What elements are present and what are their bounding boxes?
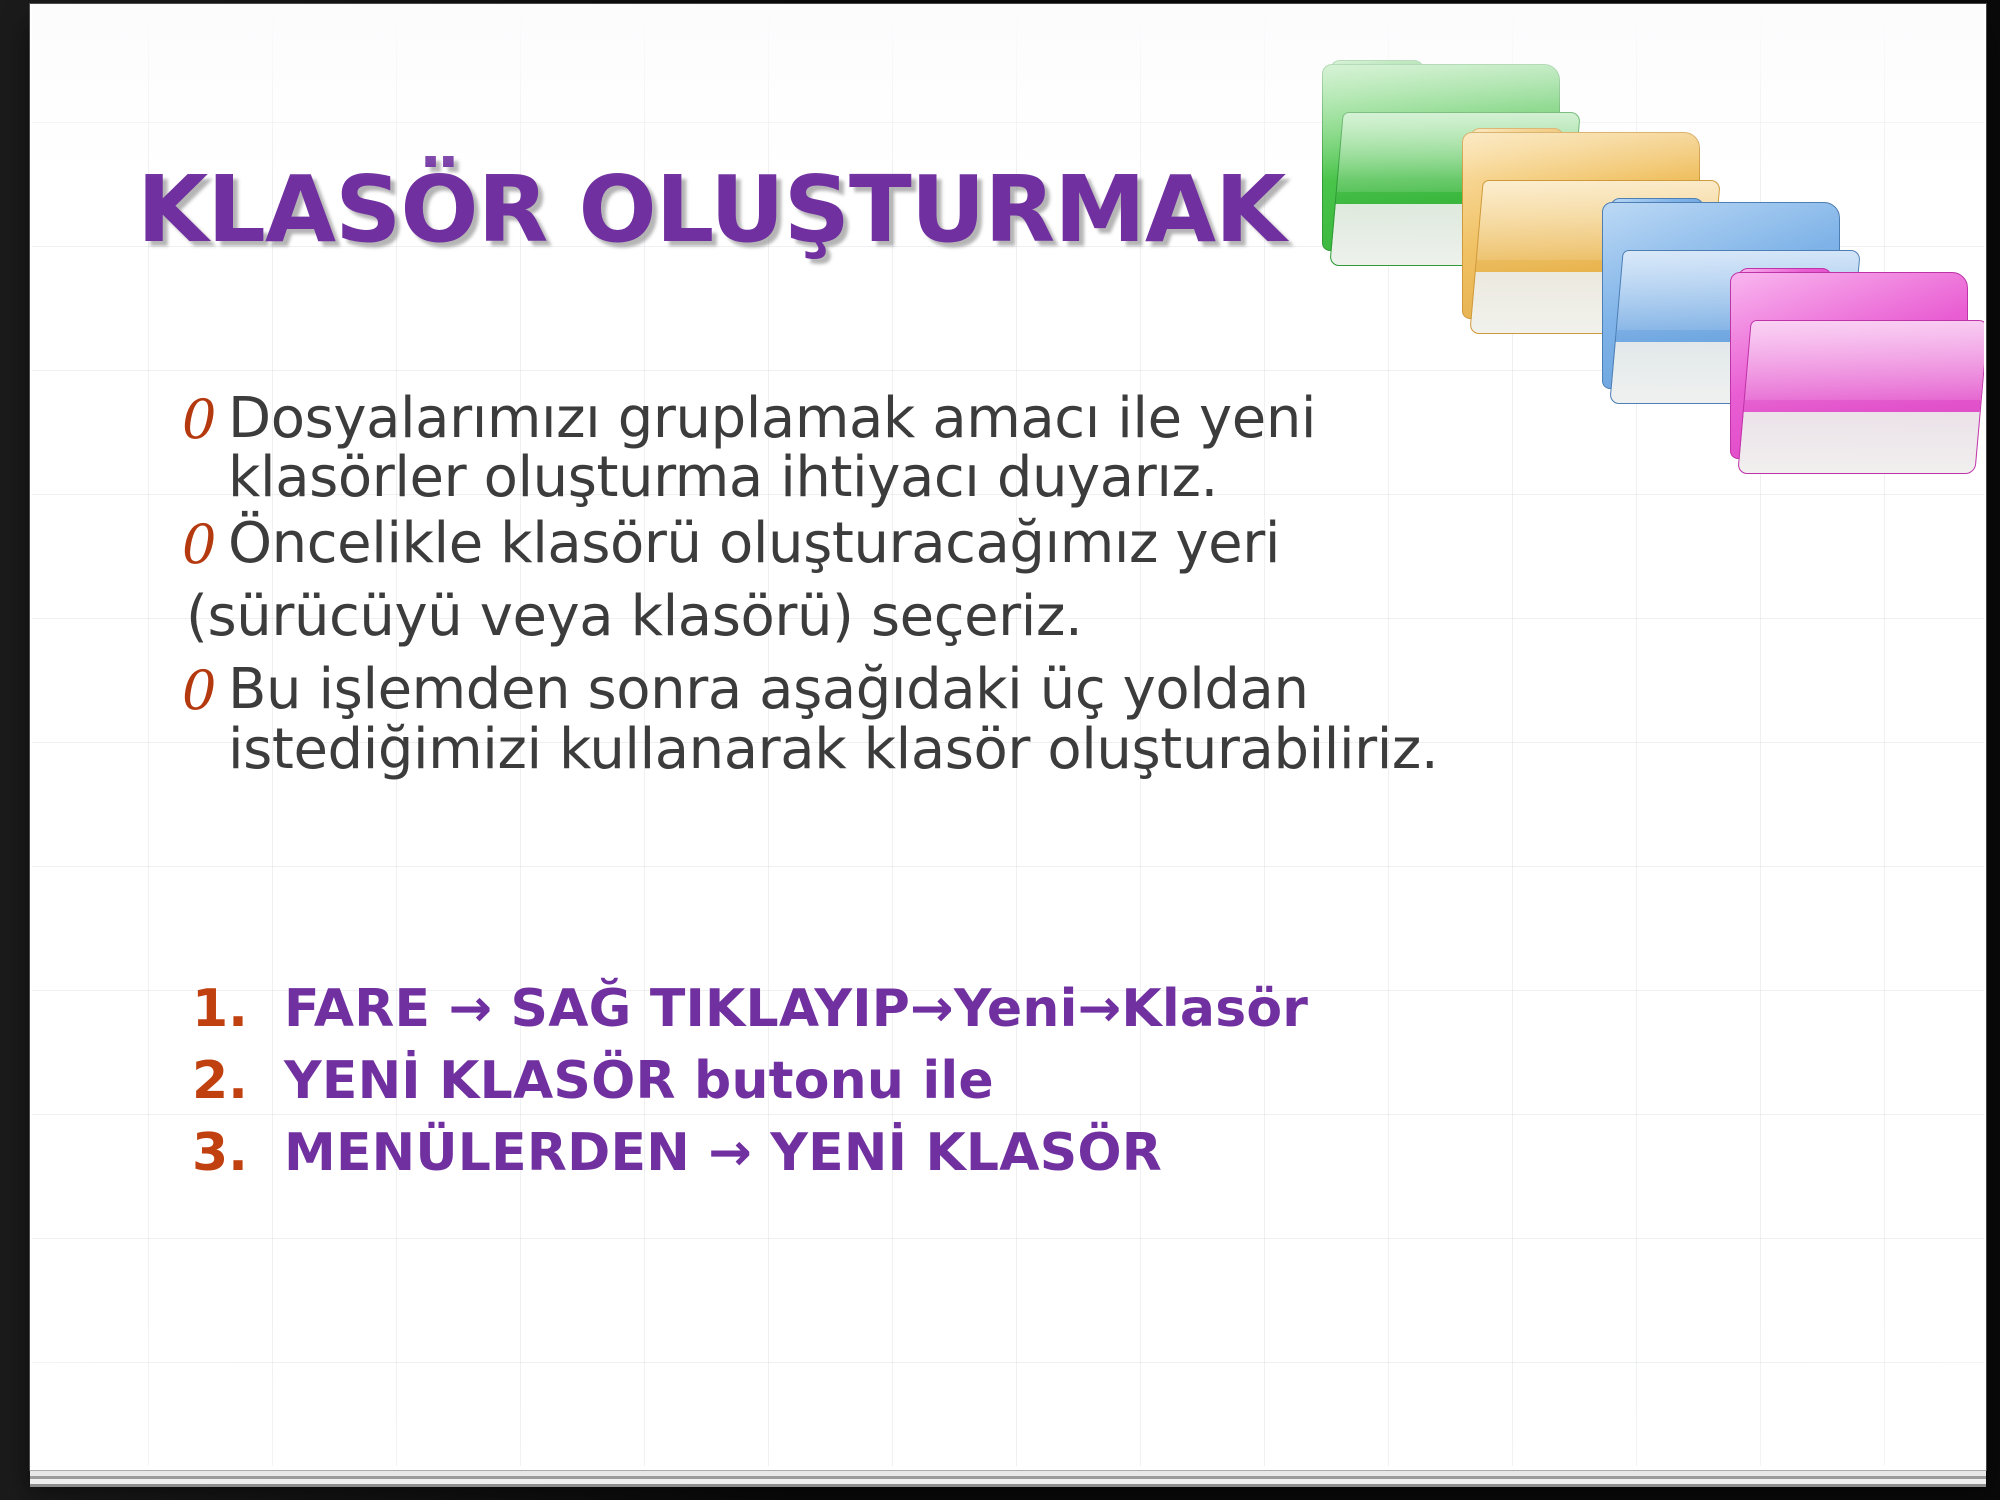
methods-numbered-list: 1. FARE → SAĞ TIKLAYIP→Yeni→Klasör 2. YE… xyxy=(192,979,1792,1195)
list-item: 0 Dosyalarımızı gruplamak amacı ile yeni… xyxy=(182,389,1772,508)
list-number: 1. xyxy=(192,979,284,1039)
bullet-marker-icon: 0 xyxy=(182,662,228,719)
slide-frame: KLASÖR OLUŞTURMAK xyxy=(0,0,2000,1500)
page-title: KLASÖR OLUŞTURMAK xyxy=(137,164,1285,256)
list-item: 0 Bu işlemden sonra aşağıdaki üç yoldan … xyxy=(182,660,1772,779)
folder-lower-band xyxy=(1738,412,1979,473)
bullet-marker-icon: 0 xyxy=(182,516,228,573)
cascading-folders-image xyxy=(1322,44,1982,444)
bullet-text: Dosyalarımızı gruplamak amacı ile yeni k… xyxy=(228,389,1316,508)
bullet-text: Öncelikle klasörü oluşturacağımız yeri xyxy=(228,514,1280,573)
list-item: 1. FARE → SAĞ TIKLAYIP→Yeni→Klasör xyxy=(192,979,1792,1039)
body-bullet-list: 0 Dosyalarımızı gruplamak amacı ile yeni… xyxy=(182,389,1772,785)
list-item-label: MENÜLERDEN → YENİ KLASÖR xyxy=(284,1123,1162,1183)
list-item: 0 Öncelikle klasörü oluşturacağımız yeri xyxy=(182,514,1772,573)
folder-front xyxy=(1737,320,1984,474)
bullet-text-line-1: Bu işlemden sonra aşağıdaki üç yoldan xyxy=(228,657,1309,722)
bullet-text-line-2: istediğimizi kullanarak klasör oluşturab… xyxy=(228,717,1438,782)
list-item: 3. MENÜLERDEN → YENİ KLASÖR xyxy=(192,1123,1792,1183)
list-item-label: YENİ KLASÖR butonu ile xyxy=(284,1051,994,1111)
bullet-text-line-1: Dosyalarımızı gruplamak amacı ile yeni xyxy=(228,386,1316,451)
folder-gloss xyxy=(1745,321,1984,400)
list-number: 2. xyxy=(192,1051,284,1111)
list-number: 3. xyxy=(192,1123,284,1183)
list-item: 2. YENİ KLASÖR butonu ile xyxy=(192,1051,1792,1111)
bullet-text-line-1: Öncelikle klasörü oluşturacağımız yeri xyxy=(228,511,1280,576)
slide-page: KLASÖR OLUŞTURMAK xyxy=(32,4,1984,1466)
list-item-label: FARE → SAĞ TIKLAYIP→Yeni→Klasör xyxy=(284,979,1308,1039)
bullet-marker-icon: 0 xyxy=(182,391,228,448)
unbulleted-body-line: (sürücüyü veya klasörü) seçeriz. xyxy=(182,587,1772,646)
bullet-text: Bu işlemden sonra aşağıdaki üç yoldan is… xyxy=(228,660,1438,779)
bullet-text-line-2: klasörler oluşturma ihtiyacı duyarız. xyxy=(228,445,1218,510)
